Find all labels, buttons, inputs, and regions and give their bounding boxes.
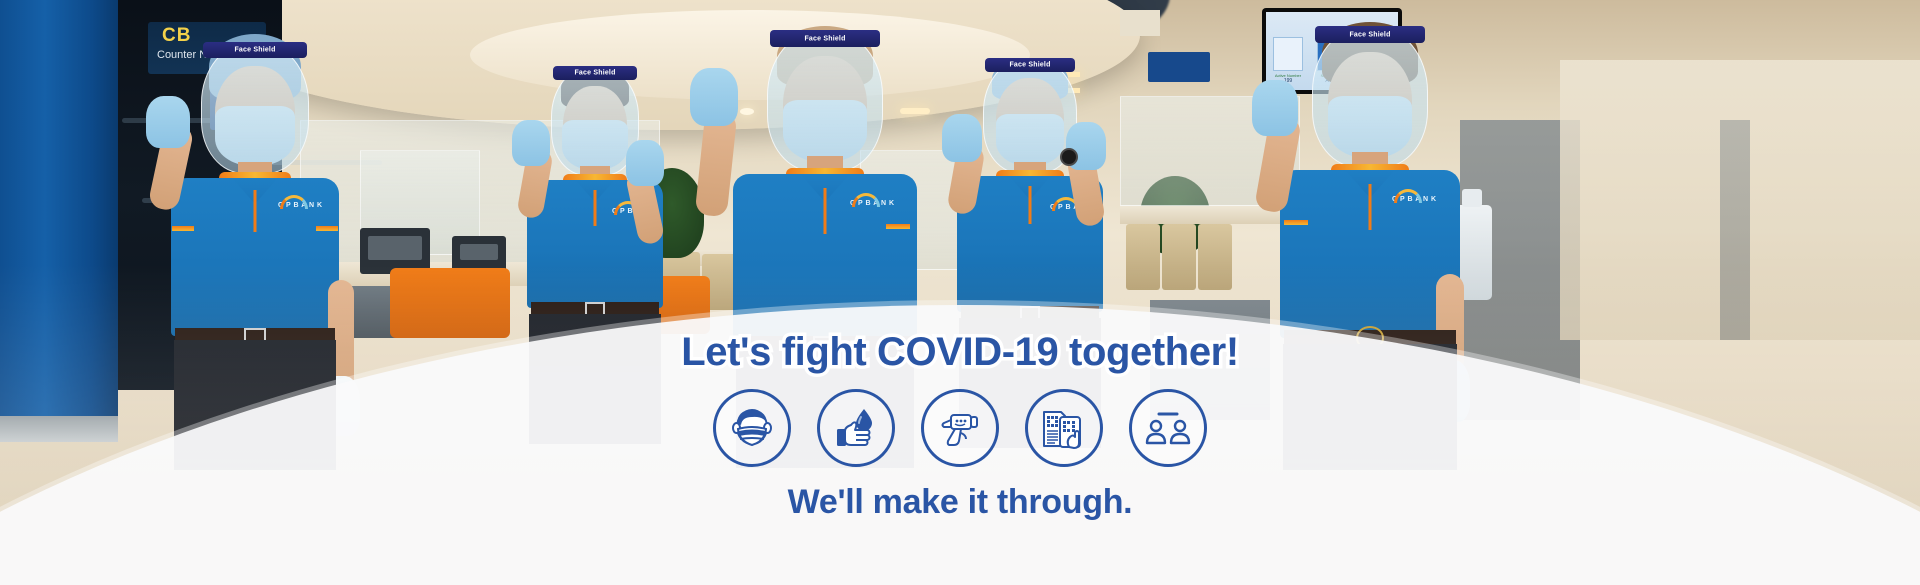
raised-arm (695, 111, 738, 218)
face-shield-band: Face Shield (553, 66, 637, 80)
blue-glove-fist (626, 140, 664, 186)
polo-logo: C P B A N K (278, 202, 323, 209)
face-shield-label: Face Shield (1009, 62, 1050, 69)
covid-awareness-banner: CB Counter No.5 Active Number 199 (0, 0, 1920, 585)
wristwatch (1060, 148, 1078, 166)
sleeve-stripe (886, 224, 910, 229)
sleeve-stripe (172, 226, 194, 231)
wall-divider (1720, 120, 1750, 340)
waiting-chair (1162, 224, 1196, 290)
sleeve-stripe (316, 226, 338, 231)
polo-logo: C P B A N K (1392, 196, 1437, 203)
face-shield-band: Face Shield (1315, 26, 1425, 43)
face-mask-icon[interactable] (713, 389, 791, 467)
face-shield-label: Face Shield (1349, 31, 1390, 38)
blue-glove-fist (942, 114, 982, 162)
thermometer-gun-icon[interactable] (921, 389, 999, 467)
prevention-icon-row (713, 389, 1207, 467)
face-shield (767, 30, 883, 172)
face-shield-band: Face Shield (985, 58, 1075, 72)
face-shield (201, 42, 309, 174)
shirt-placket (1029, 186, 1032, 224)
blue-glove-fist (146, 96, 190, 148)
sleeve-stripe (1284, 220, 1308, 225)
blue-glove-fist (690, 68, 738, 126)
shirt-placket (1369, 184, 1372, 230)
waiting-chair (1126, 224, 1160, 290)
face-shield-band: Face Shield (770, 30, 880, 47)
face-shield (1312, 26, 1428, 168)
blue-glove-fist (512, 120, 550, 166)
social-distancing-icon[interactable] (1129, 389, 1207, 467)
face-shield-label: Face Shield (574, 70, 615, 77)
orange-chair (390, 268, 510, 338)
face-shield-band: Face Shield (203, 42, 307, 58)
wall-sign (1148, 52, 1210, 82)
wall-panel (1120, 10, 1160, 36)
face-shield-label: Face Shield (234, 47, 275, 54)
subline-text: We'll make it through. (788, 483, 1133, 522)
waiting-chair (1198, 224, 1232, 290)
polo-logo: C P B A N K (850, 200, 895, 207)
headline-text: Let's fight COVID-19 together! (681, 330, 1239, 375)
shirt-placket (594, 190, 597, 226)
qr-code-scan-icon[interactable] (1025, 389, 1103, 467)
banner-content: Let's fight COVID-19 together! (0, 330, 1920, 522)
hand-sanitizer-icon[interactable] (817, 389, 895, 467)
face-shield-label: Face Shield (804, 35, 845, 42)
blue-glove-fist (1252, 80, 1298, 136)
shirt-placket (254, 190, 257, 232)
